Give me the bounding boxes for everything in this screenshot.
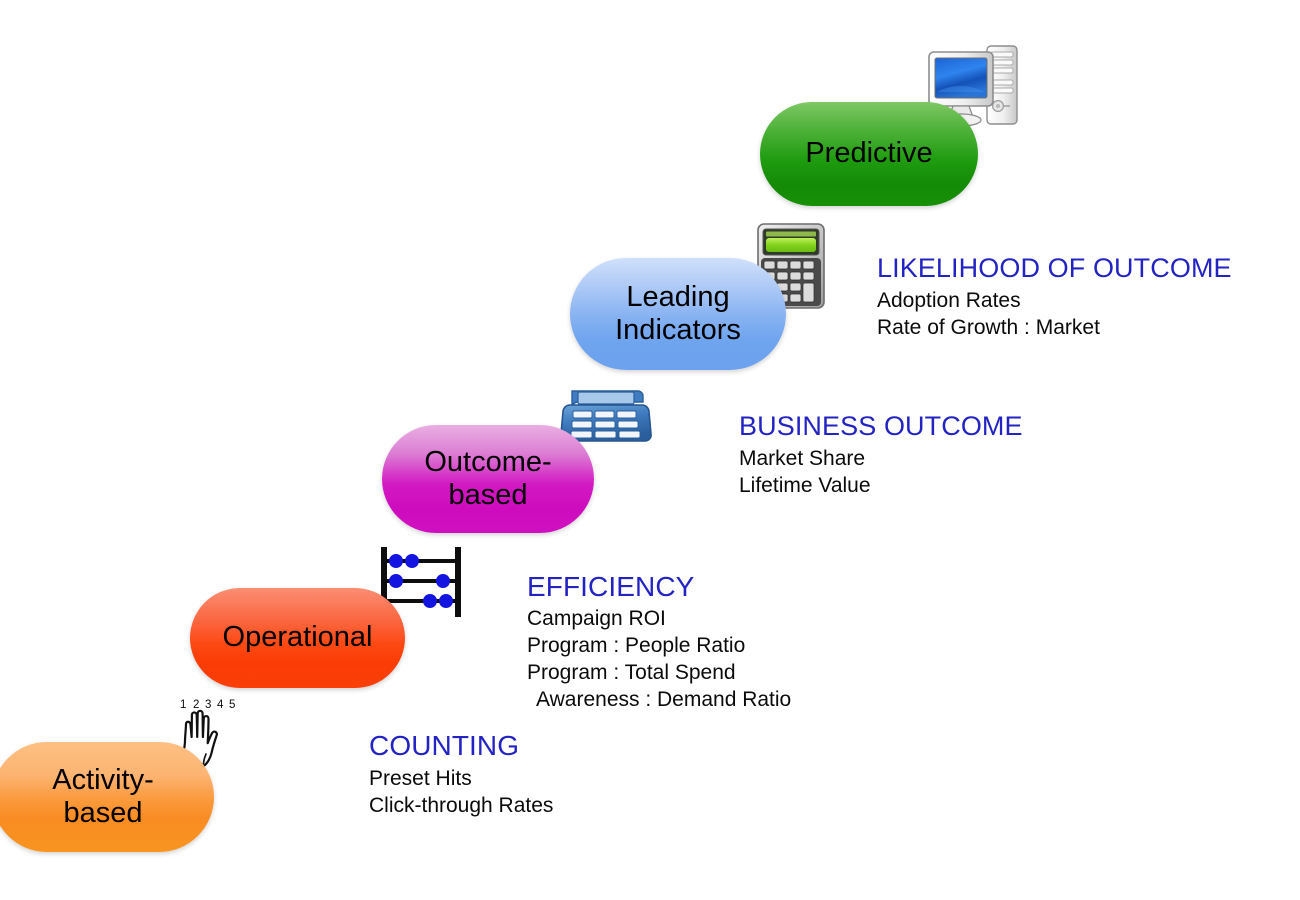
group-heading: COUNTING	[369, 731, 553, 760]
hand-number-5: 5	[229, 699, 235, 711]
list-item: Campaign ROI	[527, 606, 791, 633]
pill-label-line: Indicators	[615, 314, 741, 347]
text-group-efficiency: EFFICIENCY Campaign ROI Program : People…	[527, 572, 791, 714]
group-items: Campaign ROI Program : People Ratio Prog…	[527, 606, 791, 714]
group-heading: LIKELIHOOD OF OUTCOME	[877, 254, 1232, 282]
pill-label-line: Outcome-	[424, 446, 551, 479]
group-items: Preset Hits Click-through Rates	[369, 766, 553, 820]
list-item: Awareness : Demand Ratio	[527, 687, 791, 714]
text-group-likelihood: LIKELIHOOD OF OUTCOME Adoption Rates Rat…	[877, 254, 1232, 342]
list-item: Lifetime Value	[739, 473, 1023, 500]
hand-number-4: 4	[217, 699, 224, 711]
pill-label-line: Operational	[223, 621, 373, 654]
list-item: Program : Total Spend	[527, 660, 791, 687]
list-item: Market Share	[739, 446, 1023, 473]
hand-number-3: 3	[205, 699, 211, 711]
group-heading: BUSINESS OUTCOME	[739, 412, 1023, 440]
list-item: Preset Hits	[369, 766, 553, 793]
step-pill-activity-based[interactable]: Activity- based	[0, 742, 214, 852]
pill-label-line: Activity-	[52, 764, 154, 797]
list-item: Program : People Ratio	[527, 633, 791, 660]
hand-number-1: 1	[180, 699, 186, 711]
group-items: Adoption Rates Rate of Growth : Market	[877, 288, 1232, 342]
pill-label-line: Leading	[626, 281, 729, 314]
list-item: Click-through Rates	[369, 793, 553, 820]
list-item: Rate of Growth : Market	[877, 315, 1232, 342]
text-group-counting: COUNTING Preset Hits Click-through Rates	[369, 731, 553, 820]
list-item: Adoption Rates	[877, 288, 1232, 315]
step-pill-operational[interactable]: Operational	[190, 588, 405, 688]
group-items: Market Share Lifetime Value	[739, 446, 1023, 500]
pill-label-line: Predictive	[805, 137, 932, 170]
step-pill-leading-indicators[interactable]: Leading Indicators	[570, 258, 786, 370]
pill-label-line: based	[63, 797, 142, 830]
step-pill-outcome-based[interactable]: Outcome- based	[382, 425, 594, 533]
hand-number-2: 2	[193, 699, 199, 711]
step-pill-predictive[interactable]: Predictive	[760, 102, 978, 206]
text-group-business-outcome: BUSINESS OUTCOME Market Share Lifetime V…	[739, 412, 1023, 500]
diagram-canvas: Predictive	[0, 0, 1300, 900]
group-heading: EFFICIENCY	[527, 572, 791, 601]
pill-label-line: based	[448, 479, 527, 512]
